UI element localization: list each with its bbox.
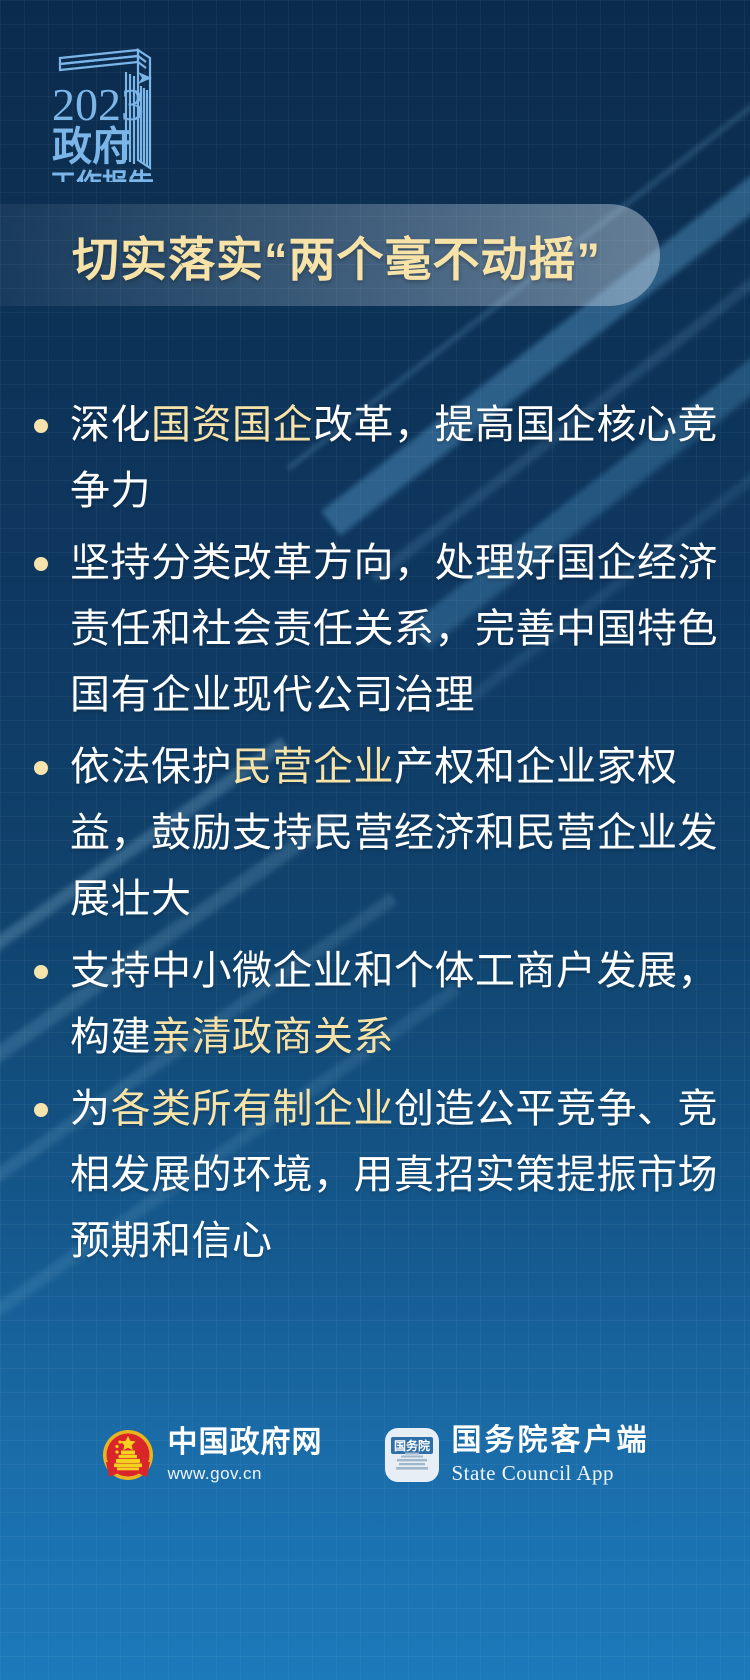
- plain-phrase: 依法保护: [70, 745, 232, 789]
- brand-year: 2023: [52, 79, 144, 130]
- state-council-app-name-en: State Council App: [452, 1463, 650, 1484]
- plain-phrase: 为: [70, 1087, 111, 1131]
- footer: 中国政府网 www.gov.cn 国务院: [0, 1426, 750, 1484]
- plain-phrase: 坚持分类改革方向，处理好国企经济责任和社会责任关系，完善中国特色国有企业现代公司…: [70, 541, 718, 717]
- gov-website-url: www.gov.cn: [168, 1465, 323, 1482]
- bullet-text: 支持中小微企业和个体工商户发展，构建亲清政商关系: [70, 938, 718, 1070]
- national-emblem-icon: [101, 1428, 155, 1482]
- brand-line2: 工作报告: [50, 168, 154, 182]
- brand-line1: 政府: [52, 125, 132, 169]
- poster-root: 2023 政府 工作报告 切实落实“两个毫不动摇” 深化国资国企改革，提高国企核…: [0, 0, 750, 1680]
- highlighted-phrase: 亲清政商关系: [151, 1015, 394, 1059]
- list-item: 为各类所有制企业创造公平竞争、竞相发展的环境，用真招实策提振市场预期和信心: [34, 1076, 718, 1274]
- gov-website-texts: 中国政府网 www.gov.cn: [168, 1428, 323, 1482]
- bullet-text: 深化国资国企改革，提高国企核心竞争力: [70, 392, 718, 524]
- brand-logo: 2023 政府 工作报告: [42, 42, 172, 182]
- state-council-app-texts: 国务院客户端 State Council App: [452, 1426, 650, 1484]
- highlighted-phrase: 各类所有制企业: [111, 1087, 395, 1131]
- bullet-text: 为各类所有制企业创造公平竞争、竞相发展的环境，用真招实策提振市场预期和信心: [70, 1076, 718, 1274]
- gov-website-logo[interactable]: 中国政府网 www.gov.cn: [101, 1428, 323, 1482]
- app-icon-label: 国务院: [393, 1438, 429, 1453]
- headline-banner: 切实落实“两个毫不动摇”: [0, 204, 660, 306]
- highlighted-phrase: 国资国企: [151, 403, 313, 447]
- state-council-app-logo[interactable]: 国务院 国务院客户端 State Council App: [385, 1426, 650, 1484]
- bullet-dot-icon: [34, 761, 48, 775]
- book-icon: 2023 政府 工作报告: [42, 42, 172, 182]
- bullet-dot-icon: [34, 1103, 48, 1117]
- list-item: 依法保护民营企业产权和企业家权益，鼓励支持民营经济和民营企业发展壮大: [34, 734, 718, 932]
- list-item: 深化国资国企改革，提高国企核心竞争力: [34, 392, 718, 524]
- page-title: 切实落实“两个毫不动摇”: [72, 221, 601, 290]
- bullet-dot-icon: [34, 419, 48, 433]
- list-item: 坚持分类改革方向，处理好国企经济责任和社会责任关系，完善中国特色国有企业现代公司…: [34, 530, 718, 728]
- bullet-text: 依法保护民营企业产权和企业家权益，鼓励支持民营经济和民营企业发展壮大: [70, 734, 718, 932]
- bullet-list: 深化国资国企改革，提高国企核心竞争力 坚持分类改革方向，处理好国企经济责任和社会…: [34, 392, 718, 1280]
- gov-website-name: 中国政府网: [168, 1428, 323, 1458]
- bullet-dot-icon: [34, 557, 48, 571]
- highlighted-phrase: 民营企业: [232, 745, 394, 789]
- list-item: 支持中小微企业和个体工商户发展，构建亲清政商关系: [34, 938, 718, 1070]
- state-council-app-name: 国务院客户端: [452, 1426, 650, 1456]
- bullet-dot-icon: [34, 965, 48, 979]
- plain-phrase: 深化: [70, 403, 151, 447]
- state-council-app-icon: 国务院: [385, 1428, 439, 1482]
- bullet-text: 坚持分类改革方向，处理好国企经济责任和社会责任关系，完善中国特色国有企业现代公司…: [70, 530, 718, 728]
